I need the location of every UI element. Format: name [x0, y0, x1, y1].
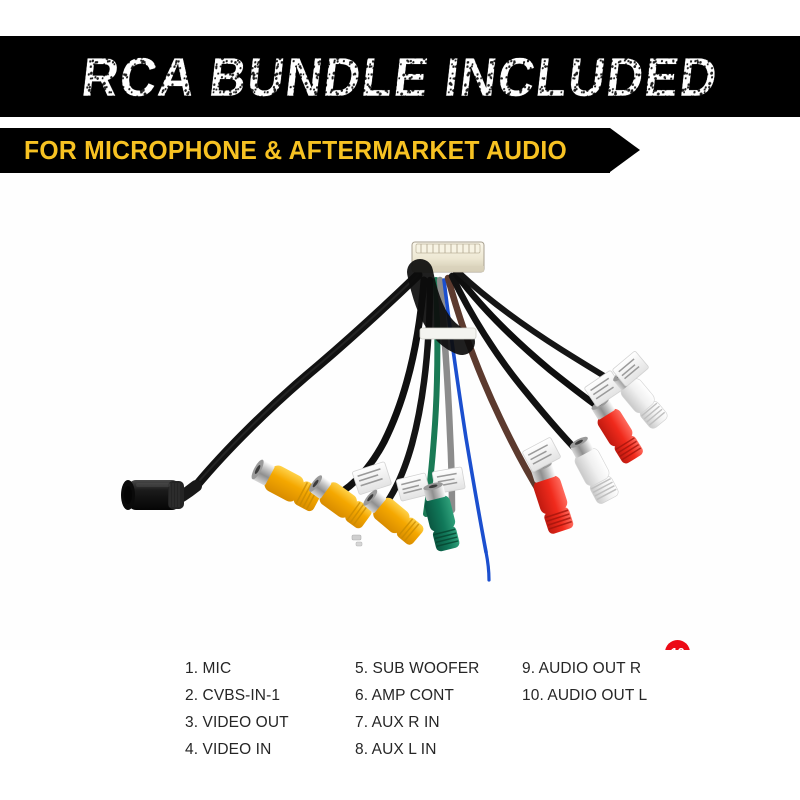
legend-item: 7. AUX R IN	[355, 709, 479, 736]
legend-item: 10. AUDIO OUT L	[522, 682, 647, 709]
subheadline-banner: FOR MICROPHONE & AFTERMARKET AUDIO	[0, 128, 610, 173]
headline-title: RCA BUNDLE INCLUDED	[79, 48, 722, 106]
legend-column-1: 1. MIC 2. CVBS-IN-1 3. VIDEO OUT 4. VIDE…	[185, 655, 289, 763]
legend-item: 6. AMP CONT	[355, 682, 479, 709]
product-infographic: RCA BUNDLE INCLUDED FOR MICROPHONE & AFT…	[0, 0, 800, 800]
legend-item: 4. VIDEO IN	[185, 736, 289, 763]
legend-item: 5. SUB WOOFER	[355, 655, 479, 682]
legend-column-3: 9. AUDIO OUT R 10. AUDIO OUT L	[522, 655, 647, 709]
harness-illustration	[0, 180, 800, 650]
legend-column-2: 5. SUB WOOFER 6. AMP CONT 7. AUX R IN 8.…	[355, 655, 479, 763]
subheadline-title: FOR MICROPHONE & AFTERMARKET AUDIO	[24, 135, 567, 166]
harness-photo: 1 2 3 4 5 6 7 8 9 10	[0, 180, 800, 650]
legend-item: 3. VIDEO OUT	[185, 709, 289, 736]
legend-item: 8. AUX L IN	[355, 736, 479, 763]
banner-arrow-tip	[610, 128, 640, 172]
legend-item: 9. AUDIO OUT R	[522, 655, 647, 682]
headline-banner: RCA BUNDLE INCLUDED	[0, 36, 800, 117]
callout-legend: 1. MIC 2. CVBS-IN-1 3. VIDEO OUT 4. VIDE…	[0, 655, 800, 775]
legend-item: 1. MIC	[185, 655, 289, 682]
legend-item: 2. CVBS-IN-1	[185, 682, 289, 709]
